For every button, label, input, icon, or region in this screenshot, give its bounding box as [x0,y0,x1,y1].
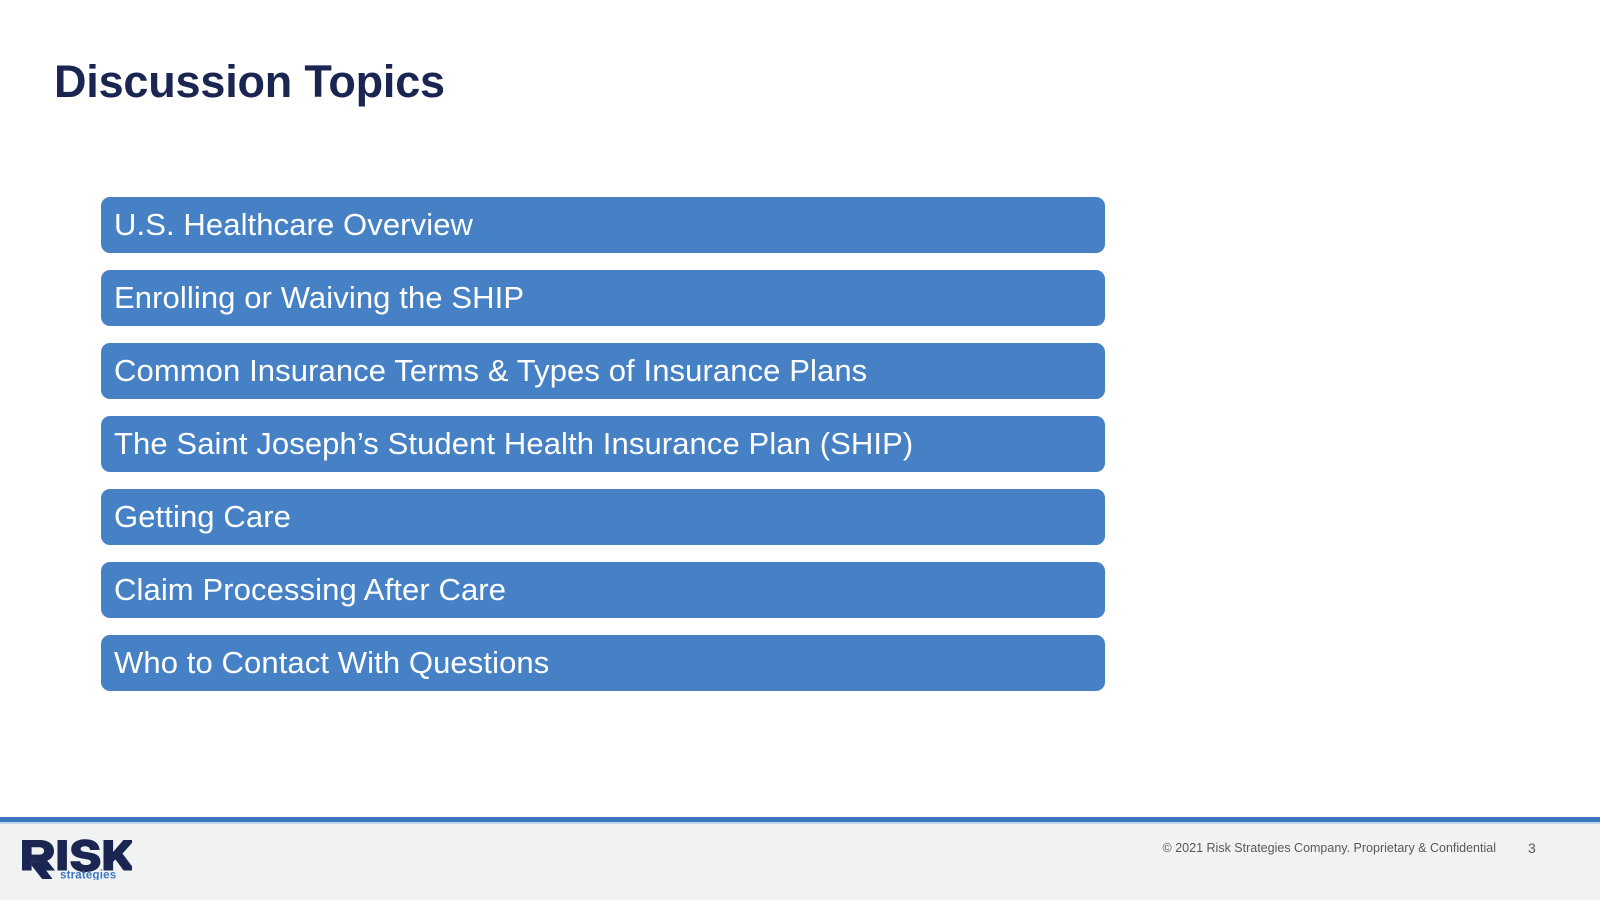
logo-letter-s [71,839,101,872]
logo-letter-i [58,840,67,871]
discussion-topics-list: U.S. Healthcare Overview Enrolling or Wa… [101,197,1105,691]
topic-label: Who to Contact With Questions [114,647,549,678]
topic-bar-saint-josephs-ship[interactable]: The Saint Joseph’s Student Health Insura… [101,416,1105,472]
slide-footer [0,824,1600,900]
topic-label: Common Insurance Terms & Types of Insura… [114,355,867,386]
topic-bar-claim-processing-after-care[interactable]: Claim Processing After Care [101,562,1105,618]
topic-label: U.S. Healthcare Overview [114,209,473,240]
topic-label: Claim Processing After Care [114,574,506,605]
footer-copyright: © 2021 Risk Strategies Company. Propriet… [1163,841,1496,855]
topic-bar-getting-care[interactable]: Getting Care [101,489,1105,545]
topic-label: Getting Care [114,501,291,532]
logo-letter-k [104,840,133,871]
topic-label: The Saint Joseph’s Student Health Insura… [114,428,913,459]
slide-canvas: Discussion Topics U.S. Healthcare Overvi… [0,0,1600,900]
topic-bar-us-healthcare-overview[interactable]: U.S. Healthcare Overview [101,197,1105,253]
topic-bar-common-insurance-terms[interactable]: Common Insurance Terms & Types of Insura… [101,343,1105,399]
topic-label: Enrolling or Waiving the SHIP [114,282,524,313]
footer-page-number: 3 [1528,840,1536,856]
topic-bar-enrolling-or-waiving-the-ship[interactable]: Enrolling or Waiving the SHIP [101,270,1105,326]
page-title: Discussion Topics [54,58,445,105]
risk-strategies-logo: strategies [20,832,132,880]
topic-bar-who-to-contact-with-questions[interactable]: Who to Contact With Questions [101,635,1105,691]
logo-wordmark-strategies: strategies [60,870,116,881]
